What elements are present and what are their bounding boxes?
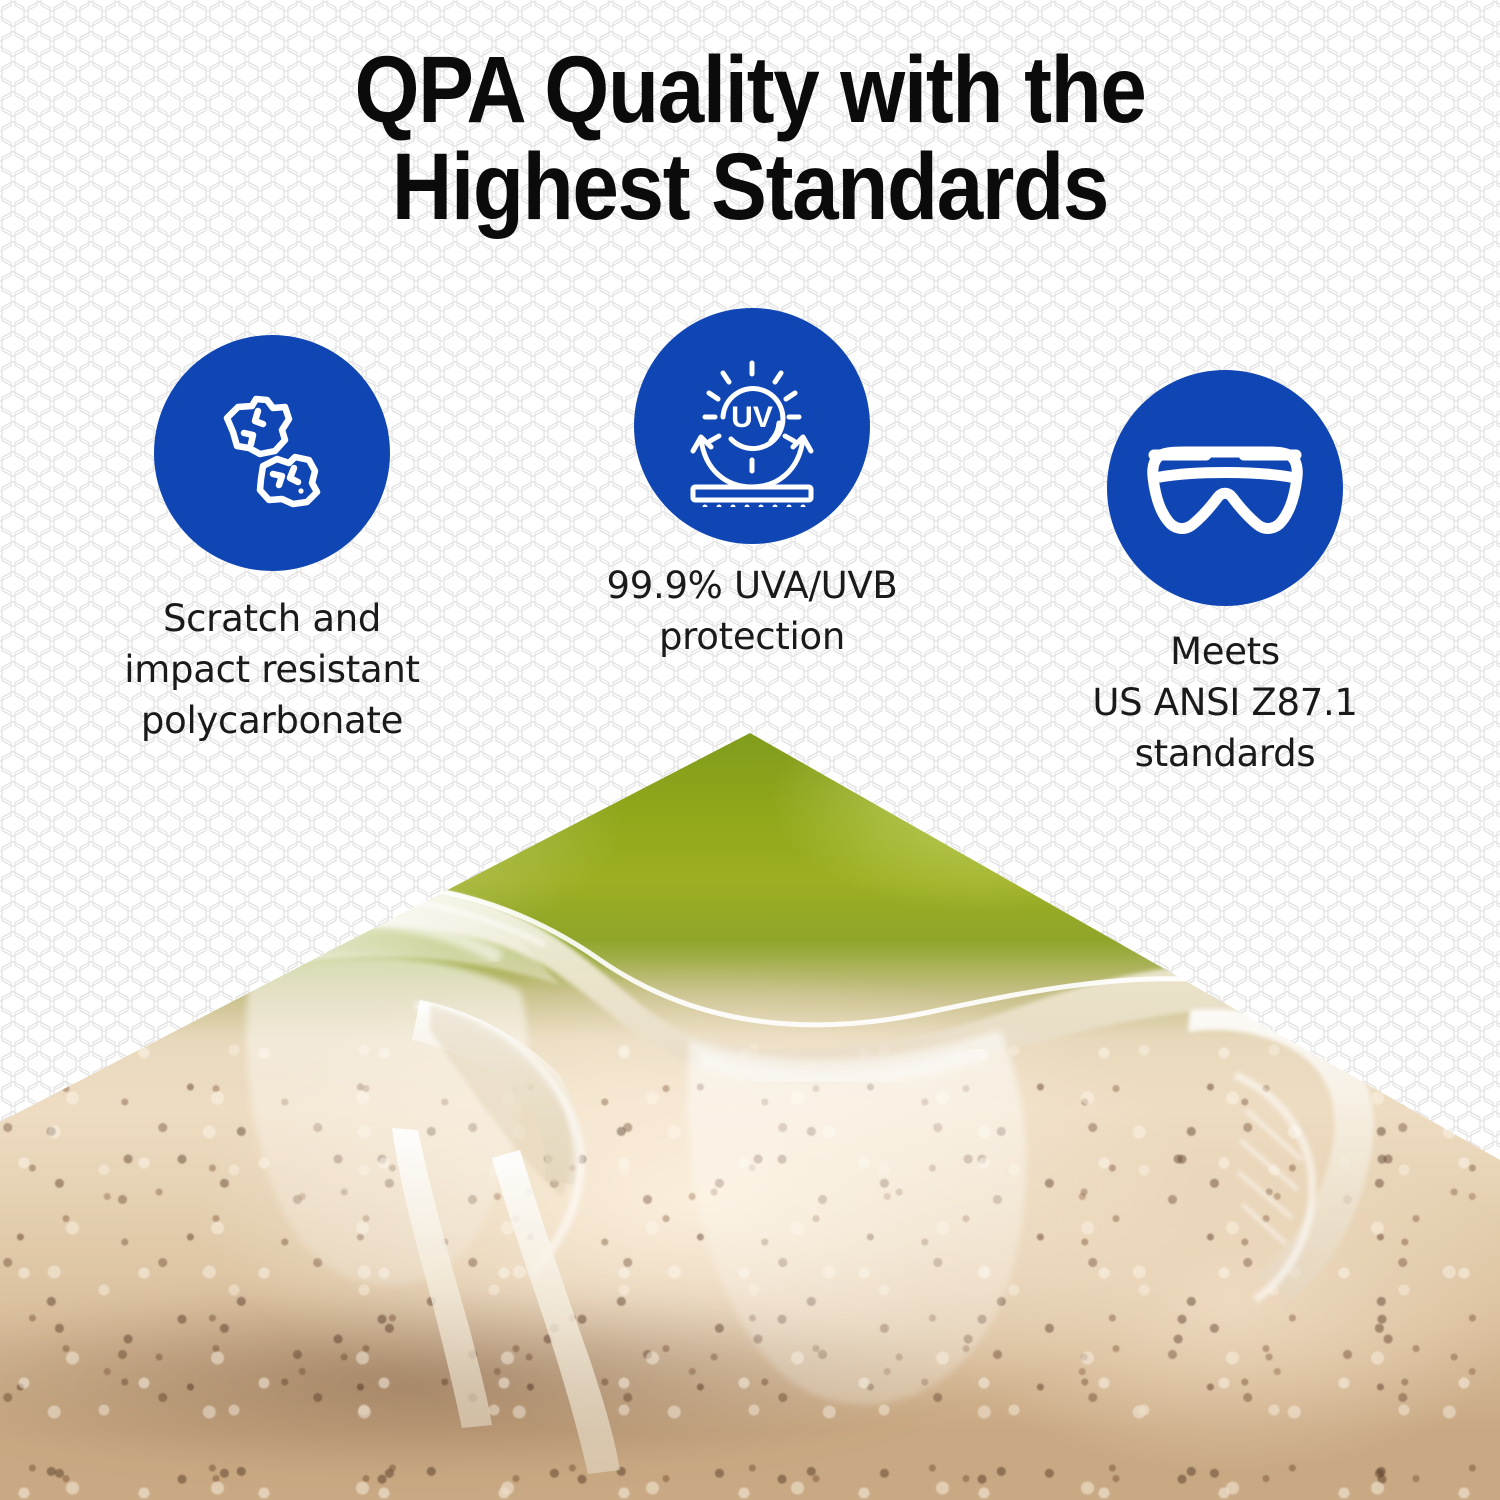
feature-ansi-standards: Meets US ANSI Z87.1 standards — [1025, 370, 1425, 779]
uv-shield-icon: UV — [671, 345, 833, 507]
safety-goggles-icon — [1144, 427, 1306, 549]
scratch-impact-icon-badge — [154, 335, 390, 571]
feature-caption-ansi-standards: Meets US ANSI Z87.1 standards — [1025, 626, 1425, 779]
infographic-root: QPA Quality with the Highest Standards — [0, 0, 1500, 1500]
feature-caption-scratch-impact: Scratch and impact resistant polycarbona… — [72, 593, 472, 746]
feature-uv-protection: UV 99.9% UVA/UVB protection — [552, 308, 952, 662]
title-line-2: Highest Standards — [222, 139, 1278, 236]
page-title: QPA Quality with the Highest Standards — [0, 42, 1500, 236]
title-line-1: QPA Quality with the — [222, 42, 1278, 139]
uv-icon-label: UV — [731, 401, 773, 434]
uv-protection-icon-badge: UV — [634, 308, 870, 544]
ansi-standards-icon-badge — [1107, 370, 1343, 606]
feature-scratch-impact: Scratch and impact resistant polycarbona… — [72, 335, 472, 746]
feature-caption-uv-protection: 99.9% UVA/UVB protection — [552, 560, 952, 662]
rock-chips-icon — [197, 378, 347, 528]
